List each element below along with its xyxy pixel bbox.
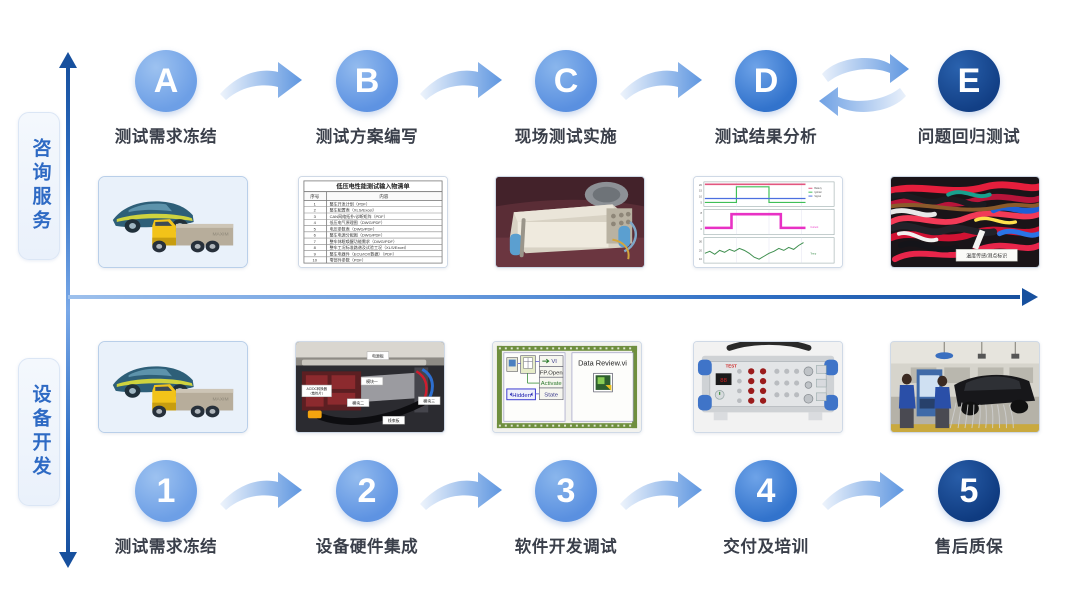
svg-text:MAXIM: MAXIM xyxy=(212,232,228,238)
step-label-d: 测试结果分析 xyxy=(700,123,832,147)
step-bottom-2[interactable]: 2 设备硬件集成 xyxy=(301,460,433,557)
step-top-a[interactable]: A 测试需求冻结 xyxy=(100,50,232,147)
step-bottom-4[interactable]: 4 交付及培训 xyxy=(700,460,832,557)
horizontal-time-arrow xyxy=(68,295,1038,299)
step-badge-c: C xyxy=(535,50,597,112)
step-label-e: 问题回归测试 xyxy=(903,123,1035,147)
svg-text:Data Review.vi: Data Review.vi xyxy=(578,359,627,368)
lane-label-development-text: 设备开发 xyxy=(29,384,50,480)
cycle-arrow-d-to-e-icon xyxy=(816,52,912,118)
step-top-b[interactable]: B 测试方案编写 xyxy=(301,50,433,147)
svg-text:模块二: 模块二 xyxy=(352,401,364,406)
step-badge-1: 1 xyxy=(135,460,197,522)
step-badge-5: 5 xyxy=(938,460,1000,522)
step-bottom-5[interactable]: 5 售后质保 xyxy=(903,460,1035,557)
svg-text:FP.Open: FP.Open xyxy=(540,370,563,376)
svg-text:整车电源分配图（DWG/PDF）: 整车电源分配图（DWG/PDF） xyxy=(330,232,385,238)
step-label-1: 测试需求冻结 xyxy=(100,533,232,557)
thumb-waveform-analysis-chart[interactable]: 2015 105 Battery Ignition Signal 840 Cur… xyxy=(693,176,843,268)
thumb-factory-acceptance-photo[interactable] xyxy=(890,341,1040,433)
svg-text:88: 88 xyxy=(720,378,727,384)
svg-text:整车休眠唤醒功能需求（DWG/PDF）: 整车休眠唤醒功能需求（DWG/PDF） xyxy=(330,238,397,244)
axis-arrowhead-down xyxy=(59,552,77,568)
step-badge-a: A xyxy=(135,50,197,112)
svg-text:10: 10 xyxy=(313,258,318,263)
svg-text:温度传感/测点标识: 温度传感/测点标识 xyxy=(966,253,1007,260)
thumb-vehicles-render-bottom[interactable]: MAXIM xyxy=(98,341,248,433)
step-badge-e: E xyxy=(938,50,1000,112)
svg-text:模块三: 模块三 xyxy=(423,399,435,404)
lane-label-consulting: 咨询服务 xyxy=(18,112,60,260)
axis-shaft-vertical xyxy=(66,65,70,555)
svg-text:序号: 序号 xyxy=(310,193,320,200)
svg-text:零部件参数（PDF）: 零部件参数（PDF） xyxy=(330,257,366,263)
lane-label-consulting-text: 咨询服务 xyxy=(29,138,50,234)
lane-label-development: 设备开发 xyxy=(18,358,60,506)
step-top-c[interactable]: C 现场测试实施 xyxy=(500,50,632,147)
step-top-e[interactable]: E 问题回归测试 xyxy=(903,50,1035,147)
flow-arrow-4-to-5-icon xyxy=(820,470,906,516)
diagram-canvas: 咨询服务 设备开发 A 测试需求冻结 B 测试方案编写 C 现场测试实施 D 测… xyxy=(0,0,1080,608)
step-badge-d: D xyxy=(735,50,797,112)
step-badge-3: 3 xyxy=(535,460,597,522)
svg-text:Temp: Temp xyxy=(810,253,816,255)
svg-text:Activate: Activate xyxy=(541,381,562,387)
thumb-labview-block-diagram[interactable]: VI FP.Open Activate State Hidden Dat xyxy=(492,341,642,433)
svg-text:模块一: 模块一 xyxy=(366,379,378,384)
svg-text:低压电性能测试输入物清单: 低压电性能测试输入物清单 xyxy=(335,183,409,191)
vertical-double-arrow xyxy=(66,52,70,568)
flow-arrow-a-to-b-icon xyxy=(218,60,304,106)
svg-text:AC/DC转换器: AC/DC转换器 xyxy=(307,386,328,391)
svg-text:（散热片）: （散热片） xyxy=(308,390,325,395)
flow-arrow-2-to-3-icon xyxy=(418,470,504,516)
svg-text:低压电气原理图（DWG/PDF）: 低压电气原理图（DWG/PDF） xyxy=(330,219,385,225)
svg-text:电源板: 电源板 xyxy=(372,354,384,359)
thumb-input-checklist-document[interactable]: 低压电性能测试输入物清单 序号 内容 1整车开发计划（PDF） 2整车配置表（X… xyxy=(298,176,448,268)
axis-arrowhead-right xyxy=(1022,288,1038,306)
step-badge-2: 2 xyxy=(336,460,398,522)
thumb-portable-test-instrument-photo[interactable]: 88 TEST xyxy=(693,341,843,433)
step-top-d[interactable]: D 测试结果分析 xyxy=(700,50,832,147)
thumb-hardware-integration-photo[interactable]: 电源板 模块一 模块二 模块三 线束板 AC/DC转换器 （散热片） xyxy=(295,341,445,433)
flow-arrow-b-to-c-icon xyxy=(418,60,504,106)
svg-text:VI: VI xyxy=(551,359,557,365)
step-label-b: 测试方案编写 xyxy=(301,123,433,147)
flow-arrow-c-to-d-icon xyxy=(618,60,704,106)
svg-text:TEST: TEST xyxy=(726,363,738,368)
flow-arrow-1-to-2-icon xyxy=(218,470,304,516)
step-label-4: 交付及培训 xyxy=(700,533,832,557)
step-label-5: 售后质保 xyxy=(903,533,1035,557)
svg-text:整车开发计划（PDF）: 整车开发计划（PDF） xyxy=(330,200,370,206)
svg-text:电压参数表（DWG/PDF）: 电压参数表（DWG/PDF） xyxy=(330,225,377,231)
step-label-a: 测试需求冻结 xyxy=(100,123,232,147)
svg-text:Ignition: Ignition xyxy=(814,191,822,194)
svg-text:线束板: 线束板 xyxy=(388,418,400,423)
step-label-2: 设备硬件集成 xyxy=(301,533,433,557)
svg-text:Signal: Signal xyxy=(814,196,821,198)
svg-text:内容: 内容 xyxy=(379,193,389,200)
svg-text:整车配置表（XLS/Excel）: 整车配置表（XLS/Excel） xyxy=(330,207,377,213)
flow-arrow-3-to-4-icon xyxy=(618,470,704,516)
step-bottom-1[interactable]: 1 测试需求冻结 xyxy=(100,460,232,557)
svg-text:Hidden: Hidden xyxy=(512,393,531,399)
svg-text:State: State xyxy=(544,392,558,398)
step-label-c: 现场测试实施 xyxy=(500,123,632,147)
thumb-wiring-harness-photo[interactable]: 温度传感/测点标识 xyxy=(890,176,1040,268)
thumb-onsite-test-equipment-photo[interactable] xyxy=(495,176,645,268)
step-badge-4: 4 xyxy=(735,460,797,522)
axis-shaft-horizontal xyxy=(68,295,1020,299)
step-badge-b: B xyxy=(336,50,398,112)
svg-text:CAN网络拓扑/诊断矩阵（PDF）: CAN网络拓扑/诊断矩阵（PDF） xyxy=(330,213,388,219)
svg-text:整车工况标准路谱及试验工况（XLS/Excel）: 整车工况标准路谱及试验工况（XLS/Excel） xyxy=(330,244,409,250)
svg-text:MAXIM: MAXIM xyxy=(212,397,228,403)
svg-text:整车电器件（ECU/IOX数据）（PDF）: 整车电器件（ECU/IOX数据）（PDF） xyxy=(330,250,397,256)
step-label-3: 软件开发调试 xyxy=(500,533,632,557)
thumb-vehicles-render-top[interactable]: MAXIM xyxy=(98,176,248,268)
step-bottom-3[interactable]: 3 软件开发调试 xyxy=(500,460,632,557)
svg-text:Current: Current xyxy=(810,226,818,229)
svg-text:Battery: Battery xyxy=(814,187,822,190)
